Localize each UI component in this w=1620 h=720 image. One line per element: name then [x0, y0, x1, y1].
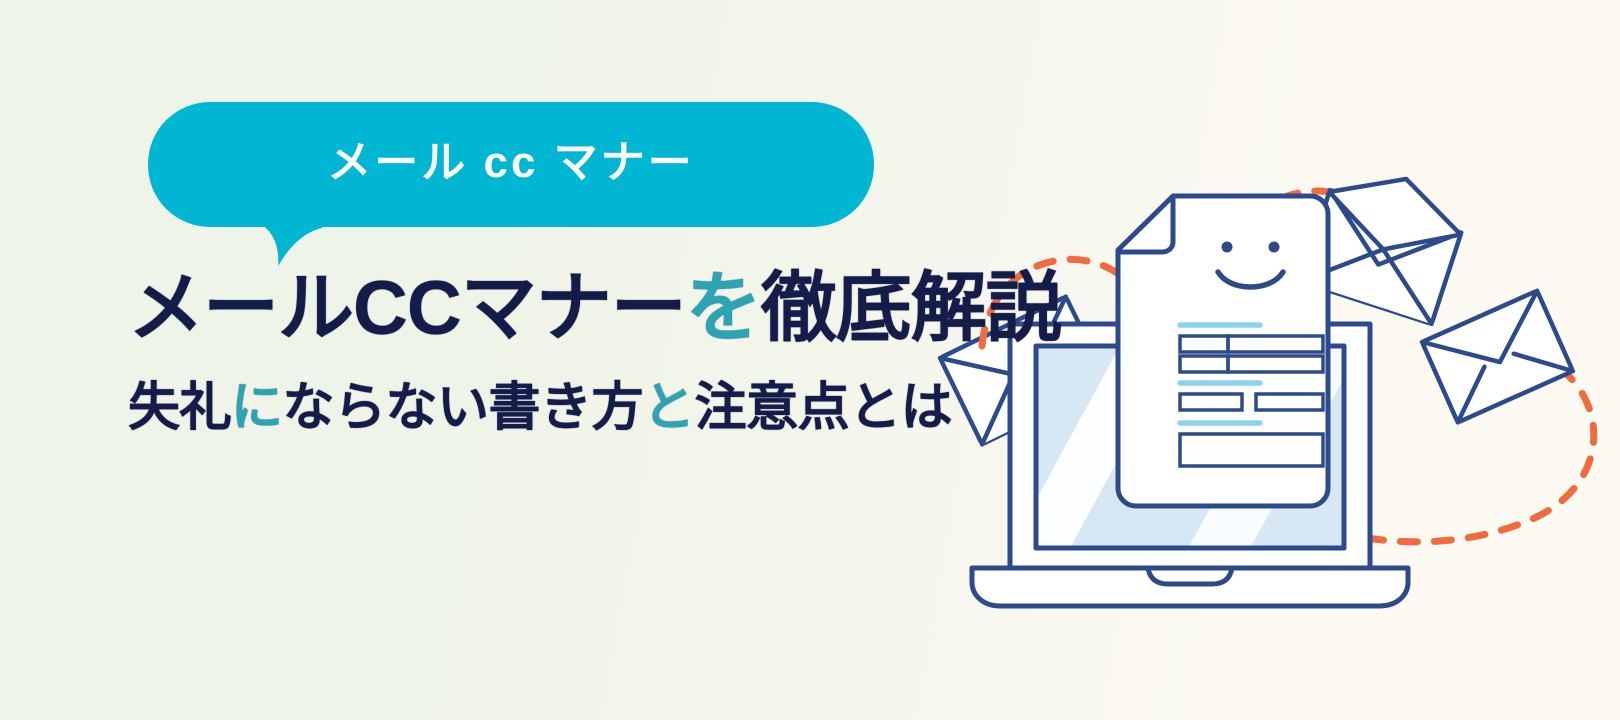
subheadline-segment-5: 注意点とは	[695, 379, 953, 437]
subheadline-segment-4: と	[643, 379, 695, 437]
page-subtitle: 失礼にならない書き方と注意点とは	[128, 380, 1061, 437]
headline-block: メールCCマナーを徹底解説 失礼にならない書き方と注意点とは	[128, 268, 1061, 437]
headline-segment-3: 徹底解説	[761, 266, 1061, 351]
badge-speech-bubble: メール cc マナー	[148, 102, 874, 227]
subheadline-segment-1: 失礼	[128, 379, 231, 437]
headline-segment-2: を	[686, 266, 761, 351]
hero-banner: メール cc マナー メールCCマナーを徹底解説 失礼にならない書き方と注意点と…	[0, 0, 1620, 720]
badge-body: メール cc マナー	[148, 102, 874, 227]
badge-tail-icon	[260, 220, 330, 266]
subheadline-segment-3: ならない書き方	[283, 379, 644, 437]
subheadline-segment-2: に	[231, 379, 283, 437]
document-sheet-icon	[1118, 196, 1328, 506]
envelope-right-icon	[1422, 291, 1573, 423]
badge-label: メール cc マナー	[327, 141, 694, 185]
page-title: メールCCマナーを徹底解説	[128, 268, 1061, 350]
headline-segment-1: メールCCマナー	[128, 266, 686, 351]
